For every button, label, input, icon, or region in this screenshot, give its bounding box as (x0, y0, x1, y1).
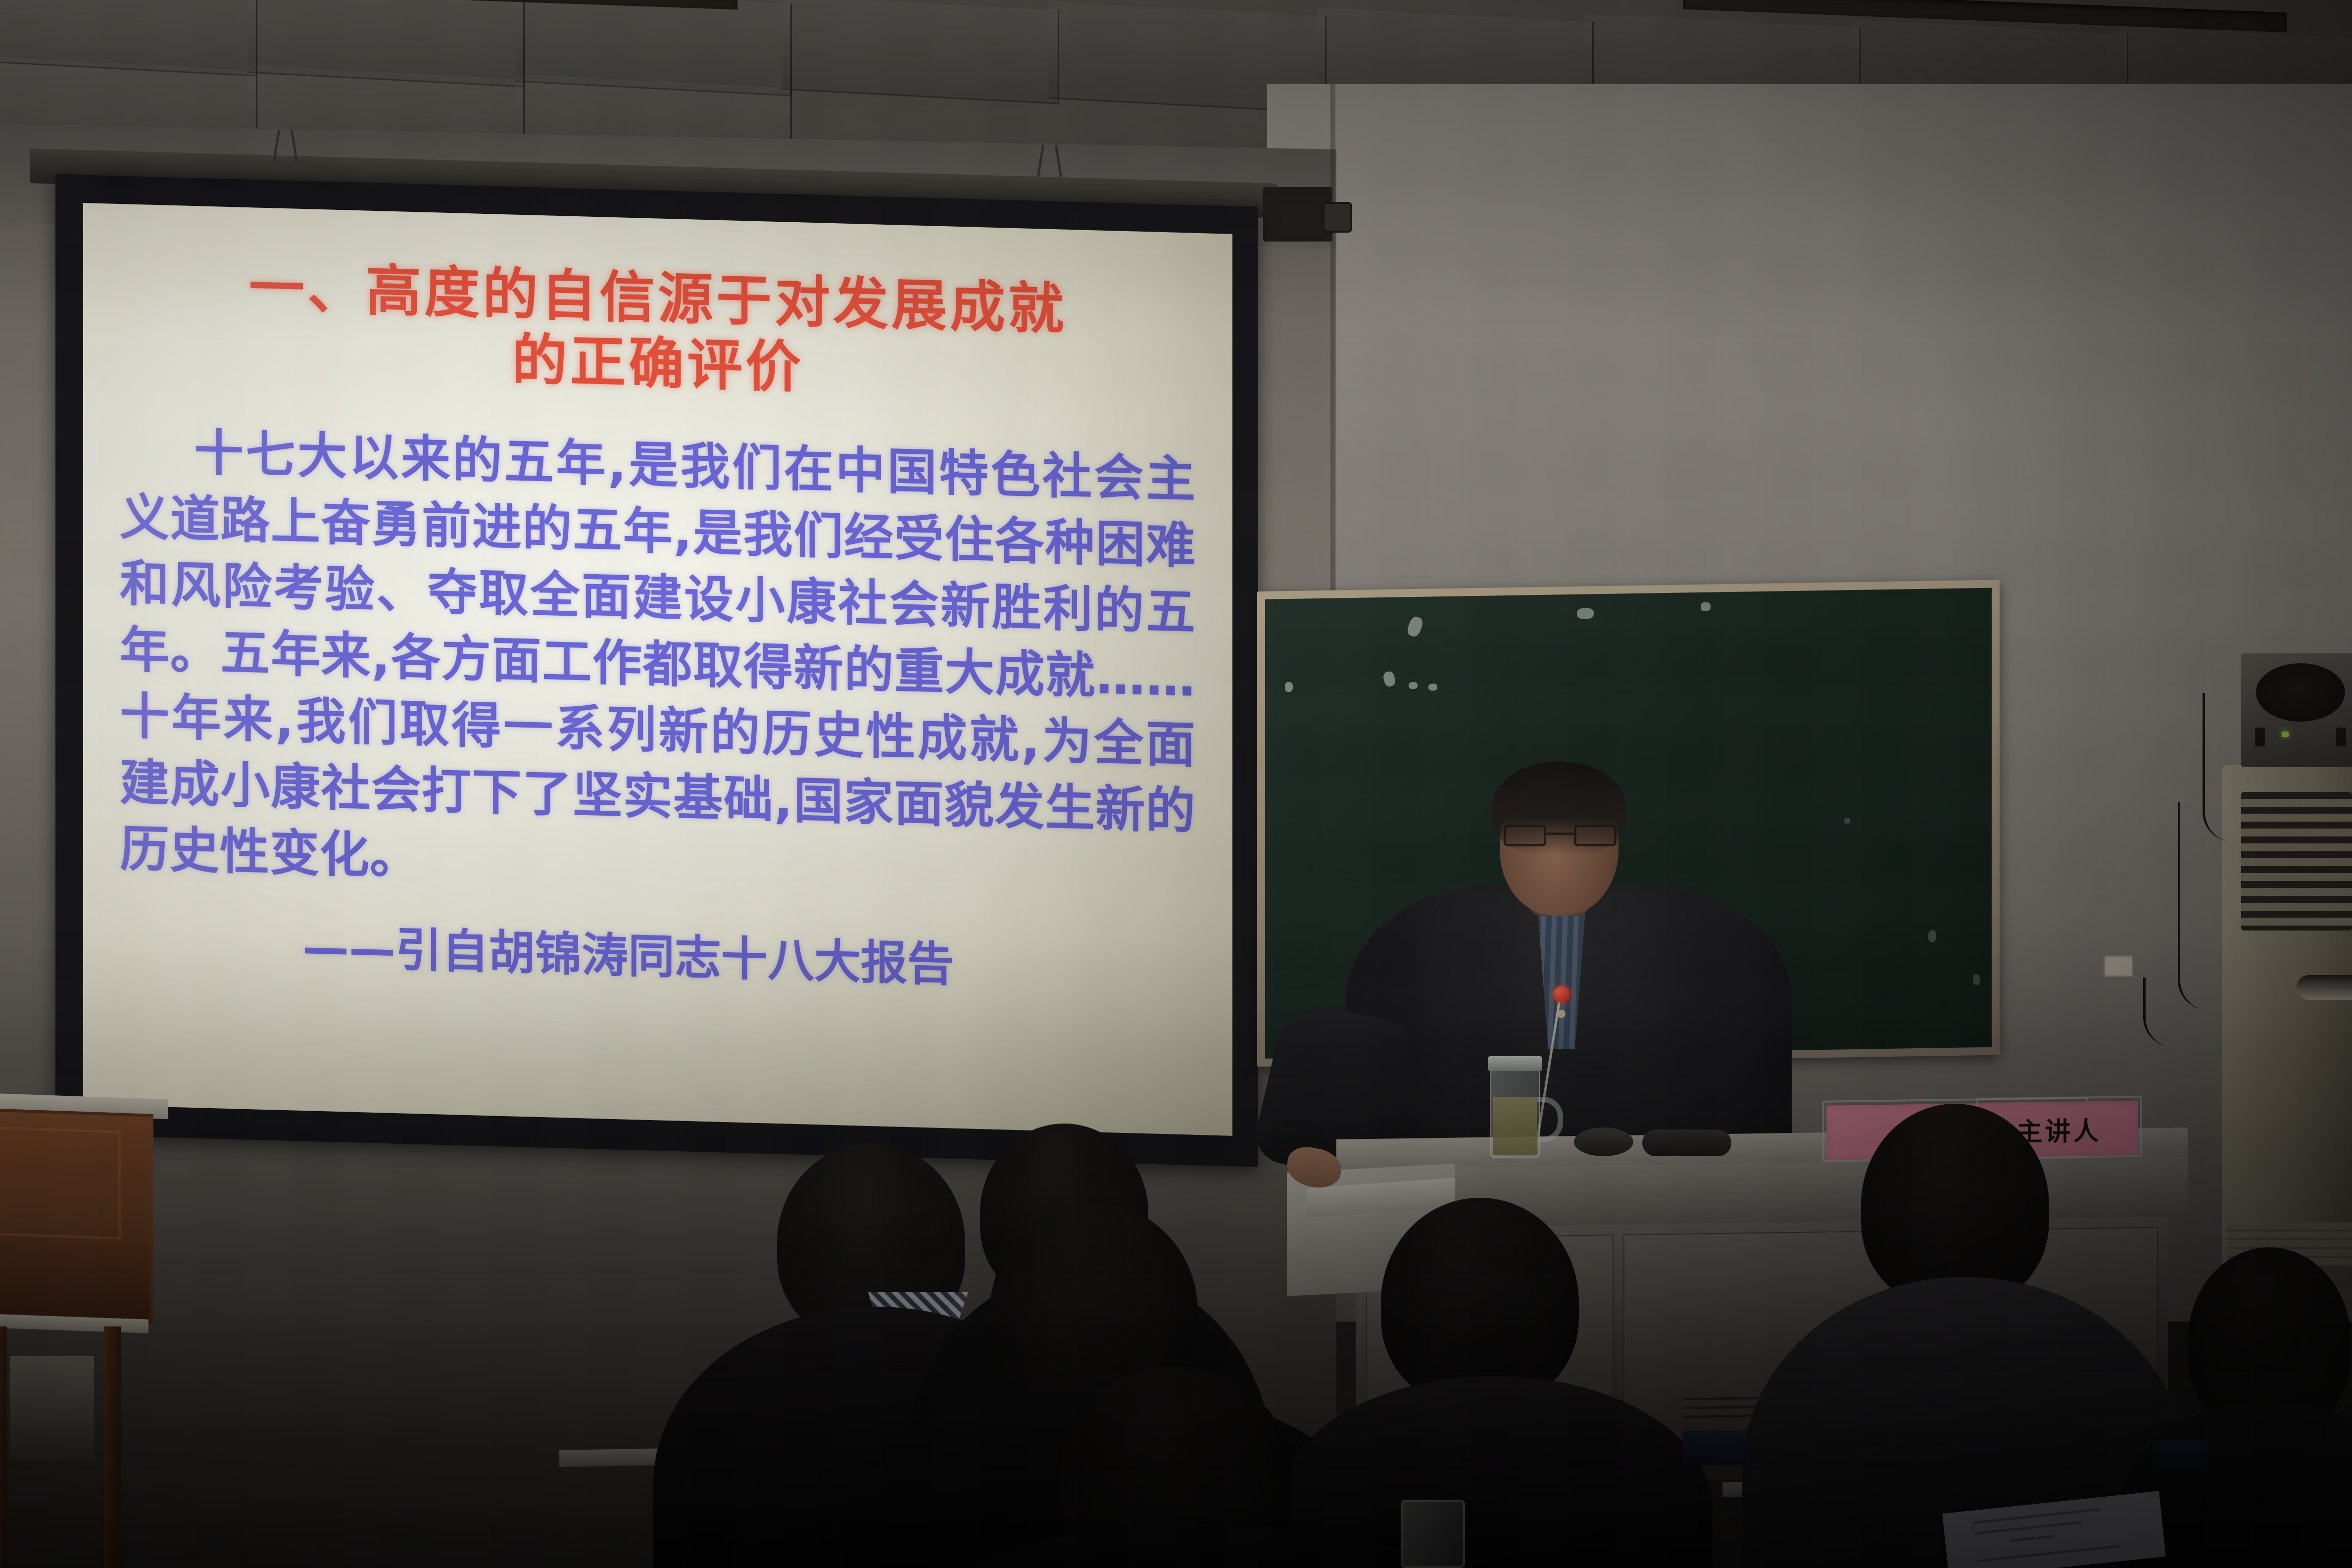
ac-grille-icon (2241, 792, 2352, 931)
presenter-glasses-icon (1504, 825, 1617, 846)
slide-body-text: 十七大以来的五年,是我们在中国特色社会主义道路上奋勇前进的五年,是我们经受住各种… (120, 418, 1196, 911)
bench-item-blue (1683, 1430, 1747, 1465)
bench-item-blue-2 (2153, 1440, 2207, 1470)
projector-lens-icon (1323, 202, 1352, 233)
ceiling-projector-mount (1263, 187, 1332, 242)
slide-body-paragraph: 十七大以来的五年,是我们在中国特色社会主义道路上奋勇前进的五年,是我们经受住各种… (120, 422, 1196, 885)
wooden-lectern-body (0, 1108, 153, 1327)
wall-power-outlet[interactable] (2104, 955, 2133, 977)
speaker-vent-right (2336, 728, 2346, 746)
bench-tea-mug (1401, 1500, 1465, 1568)
speaker-cable-2 (2178, 802, 2212, 1010)
lectern-leg-right (104, 1326, 121, 1568)
ac-logo-badge (2297, 975, 2352, 1000)
microphone-base-secondary (1642, 1129, 1731, 1156)
microphone-indicator-icon (1553, 986, 1570, 1003)
mug-lid (1488, 1056, 1542, 1071)
slide-attribution: ——引自胡锦涛同志十八大报告 (120, 905, 1196, 1001)
slide-title: 一、高度的自信源于对发展成就 的正确评价 (120, 251, 1196, 411)
speaker-power-led-icon (2282, 732, 2289, 737)
lecture-hall-photo: 一、高度的自信源于对发展成就 的正确评价 十七大以来的五年,是我们在中国特色社会… (0, 0, 2352, 1568)
speaker-vent-left (2255, 728, 2265, 746)
slide-content: 一、高度的自信源于对发展成就 的正确评价 十七大以来的五年,是我们在中国特色社会… (83, 203, 1232, 1136)
speaker-cone-icon (2256, 663, 2345, 722)
microphone-base (1574, 1127, 1633, 1156)
projection-screen-surface[interactable]: 一、高度的自信源于对发展成就 的正确评价 十七大以来的五年,是我们在中国特色社会… (83, 203, 1232, 1136)
lectern-leg-left (0, 1326, 7, 1568)
glass-tea-mug (1490, 1064, 1540, 1158)
lectern-stored-item (10, 1356, 94, 1460)
